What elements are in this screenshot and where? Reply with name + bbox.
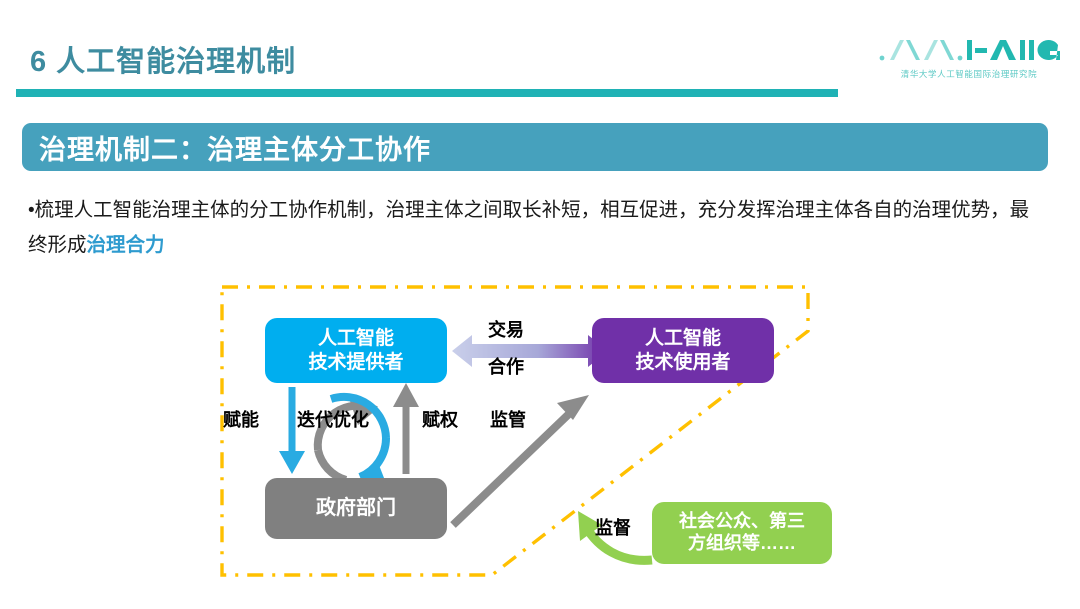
title-underline-rule bbox=[16, 89, 838, 97]
node-user-line1: 人工智能 bbox=[645, 327, 721, 350]
node-ai-technology-provider[interactable]: 人工智能 技术提供者 bbox=[265, 318, 447, 383]
edge-label-transaction: 交易 bbox=[488, 316, 524, 342]
governance-collaboration-diagram: 人工智能 技术提供者 人工智能 技术使用者 政府部门 社会公众、第三 方组织等…… bbox=[200, 275, 880, 595]
edge-label-authorize: 赋权 bbox=[422, 406, 458, 432]
node-government-line1: 政府部门 bbox=[316, 496, 396, 520]
trade-cooperation-arrow bbox=[452, 335, 608, 367]
node-public-line2: 方组织等…… bbox=[688, 533, 796, 555]
institute-logo: 清华大学人工智能国际治理研究院 bbox=[876, 32, 1062, 80]
bullet-marker: • bbox=[28, 200, 35, 221]
node-provider-line1: 人工智能 bbox=[318, 327, 394, 350]
page-title: 6 人工智能治理机制 bbox=[30, 38, 296, 80]
i-aiig-logo-icon bbox=[876, 32, 1062, 66]
section-header-bar: 治理机制二：治理主体分工协作 bbox=[22, 123, 1048, 171]
body-paragraph: •梳理人工智能治理主体的分工协作机制，治理主体之间取长补短，相互促进，充分发挥治… bbox=[28, 193, 1048, 263]
paragraph-highlight: 治理合力 bbox=[87, 234, 165, 256]
logo-subtitle: 清华大学人工智能国际治理研究院 bbox=[876, 68, 1062, 80]
node-public-line1: 社会公众、第三 bbox=[679, 511, 805, 533]
paragraph-text: 梳理人工智能治理主体的分工协作机制，治理主体之间取长补短，相互促进，充分发挥治理… bbox=[28, 199, 1029, 256]
node-provider-line2: 技术提供者 bbox=[308, 351, 403, 374]
node-public-and-third-party[interactable]: 社会公众、第三 方组织等…… bbox=[652, 502, 832, 564]
node-ai-technology-user[interactable]: 人工智能 技术使用者 bbox=[592, 318, 774, 383]
edge-label-empower: 赋能 bbox=[223, 406, 259, 432]
edge-label-iterative-optimization: 迭代优化 bbox=[297, 406, 369, 432]
edge-label-cooperation: 合作 bbox=[488, 353, 524, 379]
section-header-label: 治理机制二：治理主体分工协作 bbox=[22, 128, 431, 167]
edge-label-oversight: 监督 bbox=[595, 514, 631, 540]
edge-label-supervise: 监管 bbox=[490, 406, 526, 432]
node-user-line2: 技术使用者 bbox=[635, 351, 730, 374]
authorize-supervise-arrow bbox=[393, 383, 419, 474]
node-government-departments[interactable]: 政府部门 bbox=[265, 478, 447, 539]
